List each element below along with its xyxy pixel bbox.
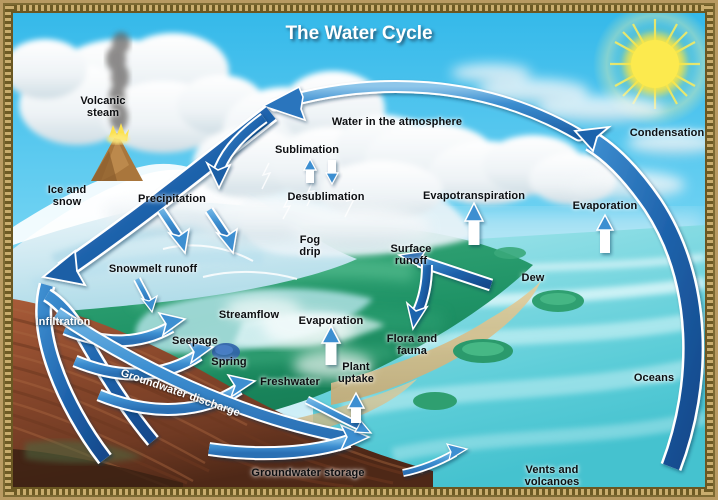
label-ice-and-snow: Ice and snow <box>48 185 87 209</box>
diagram-artwork: Volcanic steamIce and snowPrecipitationS… <box>13 13 705 487</box>
label-evaporation-ocean: Evaporation <box>573 201 638 213</box>
label-condensation: Condensation <box>630 128 705 140</box>
label-groundwater-discharge: Groundwater discharge <box>119 368 242 420</box>
label-seepage: Seepage <box>172 336 218 348</box>
label-evapotranspiration: Evapotranspiration <box>423 191 525 203</box>
label-snowmelt-runoff: Snowmelt runoff <box>109 264 197 276</box>
water-cycle-figure: Volcanic steamIce and snowPrecipitationS… <box>0 0 718 500</box>
label-oceans: Oceans <box>634 373 674 385</box>
label-vents-and-volcanoes: Vents and volcanoes <box>525 465 580 487</box>
label-precipitation: Precipitation <box>138 194 206 206</box>
label-freshwater: Freshwater <box>260 377 320 389</box>
label-streamflow: Streamflow <box>219 310 279 322</box>
label-surface-runoff: Surface runoff <box>390 244 431 268</box>
label-flora-and-fauna: Flora and fauna <box>387 334 437 358</box>
page-title: The Water Cycle <box>285 23 432 45</box>
label-water-in-atmosphere: Water in the atmosphere <box>332 117 462 129</box>
label-spring: Spring <box>211 357 246 369</box>
label-infiltration: Infiltration <box>36 317 91 329</box>
label-layer: Volcanic steamIce and snowPrecipitationS… <box>13 13 705 487</box>
label-evaporation-lake: Evaporation <box>299 316 364 328</box>
label-dew: Dew <box>522 273 545 285</box>
label-groundwater-storage: Groundwater storage <box>251 468 364 480</box>
label-volcanic-steam: Volcanic steam <box>80 96 125 120</box>
label-sublimation: Sublimation <box>275 145 339 157</box>
label-plant-uptake: Plant uptake <box>338 362 374 386</box>
label-desublimation: Desublimation <box>287 192 364 204</box>
label-fog-drip: Fog drip <box>299 235 320 259</box>
